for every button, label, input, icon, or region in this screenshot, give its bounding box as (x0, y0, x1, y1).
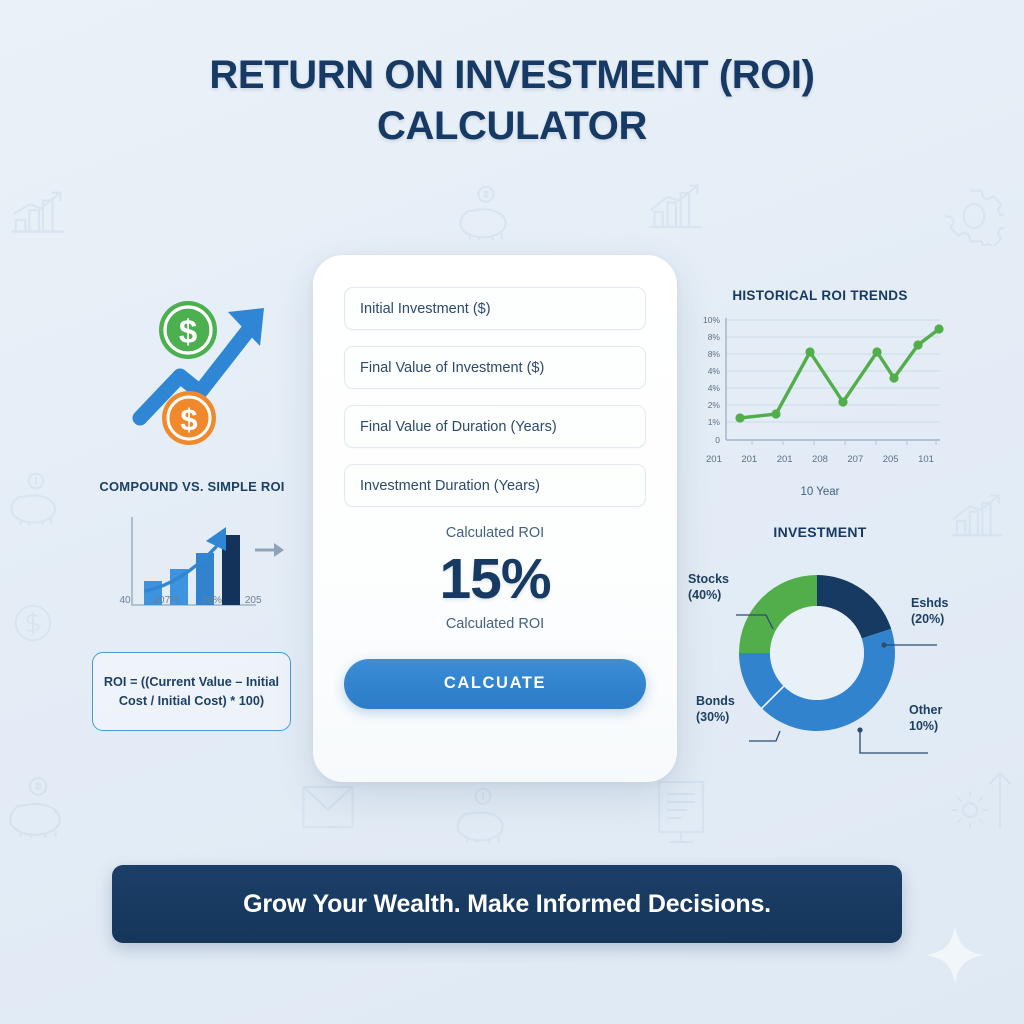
donut-label-stocks-name: Stocks (688, 571, 760, 587)
dollar-coin-watermark-icon (10, 600, 56, 646)
donut-label-eshds-name: Eshds (911, 595, 991, 611)
investment-donut-chart: Stocks (40%) Eshds (20%) Bonds (30%) Oth… (670, 545, 1000, 760)
xtick-6: 101 (918, 454, 934, 465)
page-title-line-2: CALCULATOR (0, 101, 1024, 152)
page-title: RETURN ON INVESTMENT (ROI) CALCULATOR (0, 50, 1024, 152)
result-value: 15% (344, 543, 646, 616)
ytick-0: 10% (703, 315, 720, 325)
xtick-1: 201 (741, 454, 757, 465)
line-chart-x-tick-labels: 201 201 201 208 207 205 101 (706, 454, 934, 465)
donut-label-other: Other 10%) (909, 702, 989, 734)
historical-roi-trends-line-chart: 10% 8% 8% 4% 4% 2% 1% 0 (690, 312, 945, 467)
result-label-bottom: Calculated ROI (344, 616, 646, 632)
donut-label-eshds: Eshds (20%) (911, 595, 991, 627)
ytick-3: 4% (708, 366, 721, 376)
compound-vs-simple-heading: COMPOUND VS. SIMPLE ROI (78, 479, 306, 494)
donut-label-stocks-pct: (40%) (688, 587, 760, 603)
envelope-watermark-icon (300, 783, 356, 831)
donut-label-bonds-name: Bonds (696, 693, 768, 709)
up-arrow-watermark-icon (985, 768, 1015, 830)
result-label-top: Calculated ROI (344, 525, 646, 541)
xtick-2: 201 (777, 454, 793, 465)
historical-roi-trends-title: HISTORICAL ROI TRENDS (700, 288, 940, 303)
svg-text:$: $ (179, 313, 197, 350)
piggy-bank-watermark-icon (6, 470, 64, 528)
investment-donut-title: INVESTMENT (700, 524, 940, 540)
bar-label-0: 40 (119, 595, 130, 606)
report-document-watermark-icon (655, 780, 707, 846)
donut-label-other-name: Other (909, 702, 989, 718)
piggy-bank-watermark-icon (4, 775, 70, 841)
ytick-4: 4% (708, 383, 721, 393)
bar-chart-watermark-icon (8, 185, 70, 247)
xtick-0: 201 (706, 454, 722, 465)
final-duration-input[interactable] (344, 405, 646, 448)
svg-text:$: $ (180, 402, 197, 437)
page-title-line-1: RETURN ON INVESTMENT (ROI) (0, 50, 1024, 101)
final-value-input[interactable] (344, 346, 646, 389)
donut-label-bonds-pct: (30%) (696, 709, 768, 725)
bar-label-1: 207% (153, 595, 179, 606)
roi-calculator-card: Calculated ROI 15% Calculated ROI CALCUA… (313, 255, 677, 782)
roi-formula-box: ROI = ((Current Value – Initial Cost / I… (92, 652, 291, 731)
ytick-6: 1% (708, 417, 721, 427)
ytick-5: 2% (708, 400, 721, 410)
sparkle-icon (924, 924, 986, 986)
xtick-5: 205 (883, 454, 899, 465)
donut-label-bonds: Bonds (30%) (696, 693, 768, 725)
ytick-2: 8% (708, 349, 721, 359)
bar-label-3: 205 (245, 595, 262, 606)
footer-tagline-banner: Grow Your Wealth. Make Informed Decision… (112, 865, 902, 943)
bar-label-2: 30% (202, 595, 222, 606)
arrow-right-icon (255, 540, 285, 560)
gear-watermark-icon (944, 186, 1004, 246)
line-chart-x-axis-title: 10 Year (700, 486, 940, 498)
piggy-bank-watermark-icon (452, 785, 512, 847)
investment-duration-input[interactable] (344, 464, 646, 507)
ytick-7: 0 (715, 435, 720, 445)
piggy-bank-watermark-icon (455, 182, 515, 244)
xtick-3: 208 (812, 454, 828, 465)
bar-chart-watermark-icon (645, 180, 705, 240)
xtick-4: 207 (847, 454, 863, 465)
growth-arrow-coins-icon: $ $ (132, 288, 284, 448)
result-block: Calculated ROI 15% Calculated ROI (344, 525, 646, 632)
donut-label-eshds-pct: (20%) (911, 611, 991, 627)
gear-watermark-icon (950, 790, 990, 830)
bar-chart-watermark-icon (948, 490, 1006, 548)
calculate-button[interactable]: CALCUATE (344, 659, 646, 709)
poster-canvas: RETURN ON INVESTMENT (ROI) CALCULATOR $ … (0, 0, 1024, 1024)
ytick-1: 8% (708, 332, 721, 342)
initial-investment-input[interactable] (344, 287, 646, 330)
donut-label-stocks: Stocks (40%) (688, 571, 760, 603)
donut-label-other-pct: 10%) (909, 718, 989, 734)
bar-chart-tick-labels: 40 207% 30% 205 (108, 595, 273, 606)
